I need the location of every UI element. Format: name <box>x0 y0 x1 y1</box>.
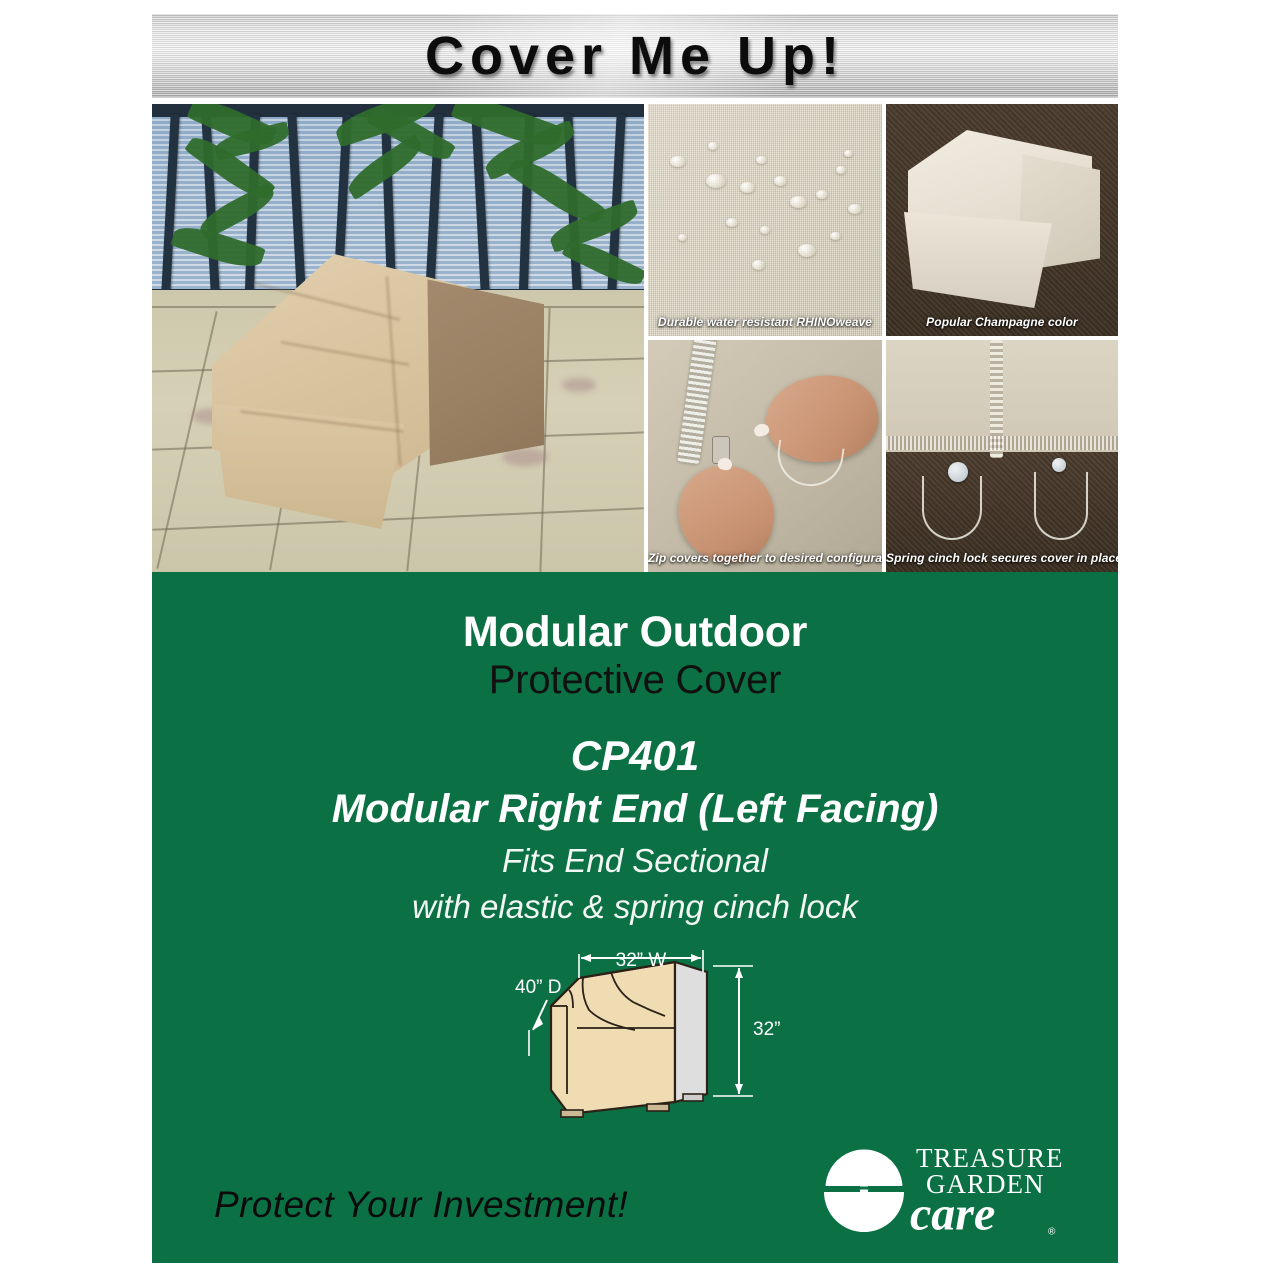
detail-caption-champagne-color: Popular Champagne color <box>886 315 1118 329</box>
rhinoweave-fabric <box>648 104 882 336</box>
tagline: Protect Your Investment! <box>214 1184 628 1226</box>
depth-label: 40” D <box>515 977 561 998</box>
treasure-garden-care-logo: TREASURE GARDEN care ® <box>816 1142 1086 1242</box>
water-droplet <box>752 260 765 270</box>
product-variant-name: Modular Right End (Left Facing) <box>152 787 1118 832</box>
product-model-number: CP401 <box>152 732 1118 780</box>
product-info-panel: Modular Outdoor Protective Cover CP401 M… <box>152 572 1118 1263</box>
width-arrowhead-right <box>691 954 701 962</box>
water-droplet <box>774 176 787 186</box>
cinch-cord-left <box>922 476 982 540</box>
water-droplet <box>798 244 816 257</box>
baluster <box>287 114 305 292</box>
cover-foot <box>561 1110 583 1117</box>
water-droplet <box>756 156 767 164</box>
water-droplet <box>740 182 755 193</box>
water-droplet <box>706 174 726 188</box>
water-droplet <box>790 196 807 208</box>
cover-foot <box>683 1094 703 1101</box>
water-droplet <box>830 232 841 240</box>
water-droplet <box>844 150 853 157</box>
cover-illustration-side-panel <box>675 962 707 1102</box>
water-droplet <box>670 156 686 167</box>
hero-photo-covered-sectional <box>152 104 644 572</box>
water-droplet <box>726 218 738 227</box>
water-droplet <box>848 204 862 214</box>
baluster <box>381 114 396 292</box>
cover-foot <box>647 1104 669 1111</box>
product-packaging-page: Cover Me Up! <box>0 0 1280 1280</box>
height-arrowhead-bottom <box>735 1084 743 1094</box>
detail-photo-zipper: Zip covers together to desired configura… <box>648 340 882 572</box>
tile-grout-line <box>152 507 644 530</box>
logo-registered-mark: ® <box>1048 1226 1056 1237</box>
cord-knot <box>1052 458 1066 472</box>
width-arrowhead-left <box>581 954 591 962</box>
water-droplet <box>678 234 687 241</box>
logo-brand-script: care <box>910 1188 995 1241</box>
water-droplet <box>708 142 718 150</box>
baluster <box>161 114 179 292</box>
tile-grout-line <box>156 311 217 569</box>
cover-illustration-body <box>551 962 675 1114</box>
photo-divider <box>648 336 1118 340</box>
umbrella-crossbar <box>846 1156 882 1164</box>
photo-collage: Durable water resistant RHINOweave Popul… <box>152 104 1118 572</box>
product-fits-text: Fits End Sectional <box>152 842 1118 880</box>
header-banner: Cover Me Up! <box>152 14 1118 98</box>
height-label: 32” H <box>753 1019 787 1040</box>
umbrella-post <box>860 1156 868 1232</box>
baluster <box>471 114 489 292</box>
height-arrowhead-top <box>735 968 743 978</box>
patio-stain <box>562 378 596 392</box>
product-title-line2: Protective Cover <box>152 658 1118 703</box>
detail-caption-water-resistant: Durable water resistant RHINOweave <box>648 315 882 329</box>
detail-photo-cinch-lock: Spring cinch lock secures cover in place <box>886 340 1118 572</box>
dimension-diagram-svg: 32” W 40” D 32” H <box>507 944 787 1159</box>
water-droplet <box>816 190 828 199</box>
water-droplet <box>760 226 770 234</box>
detail-caption-cinch-lock: Spring cinch lock secures cover in place <box>886 551 1118 565</box>
umbrella-icon <box>822 1148 906 1232</box>
banner-title: Cover Me Up! <box>425 25 845 87</box>
cinch-cord-right <box>1034 472 1088 540</box>
detail-caption-zipper: Zip covers together to desired configura… <box>648 551 882 565</box>
product-title-line1: Modular Outdoor <box>152 608 1118 657</box>
dimension-diagram: 32” W 40” D 32” H <box>507 944 787 1159</box>
width-label: 32” W <box>616 950 667 971</box>
detail-photo-water-resistant: Durable water resistant RHINOweave <box>648 104 882 336</box>
elastic-hem <box>886 436 1118 450</box>
product-features-text: with elastic & spring cinch lock <box>152 888 1118 926</box>
water-droplet <box>836 166 846 174</box>
logo-svg: TREASURE GARDEN care ® <box>816 1142 1086 1242</box>
detail-photo-champagne-color: Popular Champagne color <box>886 104 1118 336</box>
